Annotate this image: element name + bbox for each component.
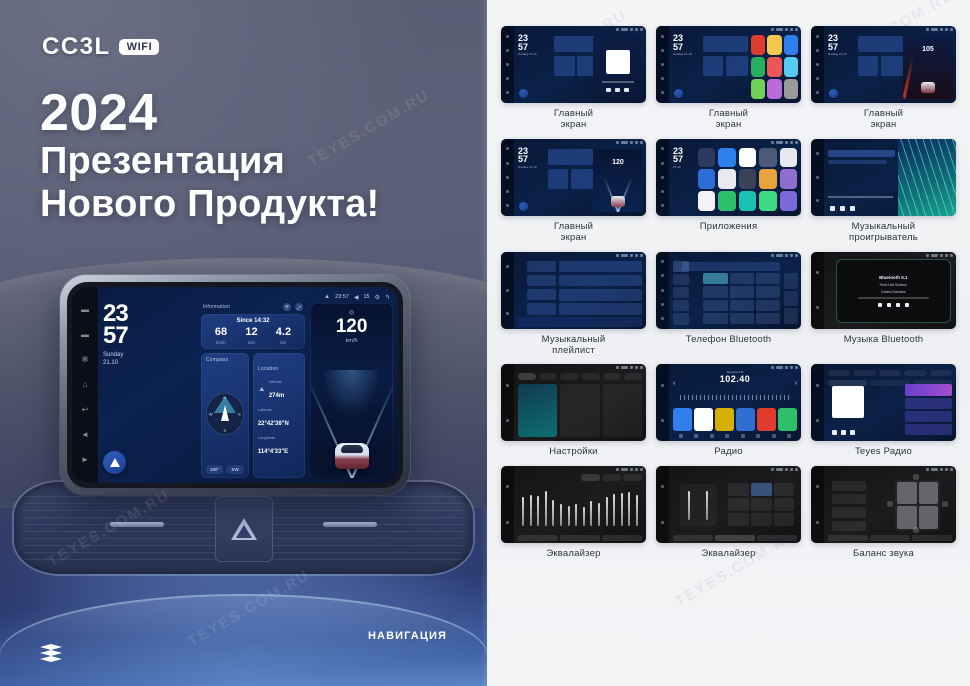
thumb-side-bar <box>811 466 824 543</box>
thumb-side-bar <box>501 26 514 103</box>
compass-e: E <box>238 411 241 416</box>
widget-columns: 23 57 Sunday 21.10 Information <box>103 303 393 478</box>
speedometer-icon: ◎ <box>349 309 354 316</box>
expand-icon[interactable]: ⤢ <box>295 303 303 311</box>
power-icon[interactable]: ▬ <box>80 304 91 315</box>
screen-thumbnail-home-media[interactable]: 2357Sunday 21.10 <box>501 26 646 103</box>
balance-presets[interactable] <box>832 481 866 530</box>
gear-icon[interactable]: ⚙ <box>375 294 380 301</box>
information-header: Information ⟳ ⤢ <box>201 303 305 314</box>
altitude-label: Altitude <box>269 379 284 384</box>
phone-actions[interactable] <box>784 273 799 324</box>
thumb-content <box>824 466 956 543</box>
next-station-icon[interactable]: › <box>795 380 797 387</box>
car-graphic <box>921 82 935 93</box>
thumb-status-bar <box>771 28 798 31</box>
trip-stat-unit: km <box>276 340 291 345</box>
thumb-app-shortcuts[interactable] <box>751 35 799 99</box>
trip-stat-unit: km/h <box>215 340 227 345</box>
clock-day: Sunday <box>103 351 196 359</box>
thumb-content: Bluetooth 5.1 Feels Like Summer Coldest … <box>824 252 956 329</box>
latitude-row: Latitude 22°42'38"N <box>258 407 300 430</box>
clock-date: 21.10 <box>103 359 196 367</box>
head-unit-frame: ▬ ▬ ✻ ⌂ ↩ ◄ ► ▲ 23:57 ◀ <box>67 282 403 488</box>
gallery-item[interactable]: 2357Sunday 21.10 <box>501 26 646 131</box>
thumb-status-bar <box>771 468 798 471</box>
screen-thumbnail-equalizer-bands[interactable] <box>501 466 646 543</box>
media-controls[interactable] <box>604 88 632 93</box>
thumb-content <box>669 252 801 329</box>
thumb-drive-panel: 105 <box>903 36 953 99</box>
thumb-side-bar <box>811 364 824 441</box>
thumb-content <box>514 364 646 441</box>
phone-number-field[interactable] <box>682 262 780 271</box>
thumb-side-bar <box>501 252 514 329</box>
drive-widget[interactable]: ◎ 120 km/h <box>310 303 393 478</box>
thumb-content <box>514 466 646 543</box>
back-icon[interactable]: ↰ <box>385 294 390 301</box>
back-icon[interactable]: ↩ <box>80 405 91 416</box>
album-art <box>832 386 864 418</box>
settings-cards[interactable] <box>518 384 642 437</box>
gallery-item[interactable]: Телефон Bluetooth <box>656 252 801 357</box>
compass-title: Compass <box>206 357 244 363</box>
information-title: Information <box>203 304 230 310</box>
thumb-content <box>669 466 801 543</box>
gallery-item-label: Радио <box>714 446 742 457</box>
information-actions[interactable]: ⟳ ⤢ <box>283 303 303 311</box>
status-volume: 15 <box>363 294 369 300</box>
gallery-item[interactable]: 2357Sunday 21.10 <box>656 26 801 131</box>
radio-frequency: 102.40 <box>682 374 788 384</box>
head-unit-screen[interactable]: ▬ ▬ ✻ ⌂ ↩ ◄ ► ▲ 23:57 ◀ <box>72 287 398 483</box>
gallery-item[interactable]: Настройки <box>501 364 646 457</box>
bt-version-label: Bluetooth 5.1 <box>879 275 908 280</box>
bt-music-card: Bluetooth 5.1 Feels Like Summer Coldest … <box>836 259 951 322</box>
app-drawer[interactable] <box>698 148 797 211</box>
screen-thumbnail-radio[interactable]: Stepstav FM 102.40 ‹ › <box>656 364 801 441</box>
progress-bar <box>602 81 634 83</box>
thumb-content: 2357Sunday 21.10 <box>669 26 801 103</box>
thumb-content: 235721.10 <box>669 139 801 216</box>
slide-root: TEYES.COM.RU TEYES.COM.RU TEYES.COM.RU C… <box>0 0 970 686</box>
thumb-side-bar <box>656 139 669 216</box>
thumb-status-bar <box>616 28 643 31</box>
logo-text: CC3L <box>42 33 111 61</box>
screen-thumbnail-bt-phone[interactable] <box>656 252 801 329</box>
bt-progress-bar[interactable] <box>858 297 929 299</box>
album-art <box>606 50 630 74</box>
location-title: Location <box>258 366 279 372</box>
gallery-item-label: Музыкальныйплейлист <box>542 334 606 357</box>
thumb-side-bar <box>656 364 669 441</box>
gallery-item[interactable]: Эквалайзер <box>501 466 646 559</box>
headline-year: 2024 <box>40 86 379 140</box>
thumb-nav-button[interactable] <box>674 89 683 98</box>
screen-thumbnail-playlist[interactable] <box>501 252 646 329</box>
gallery-item-label: Музыка Bluetooth <box>844 334 924 345</box>
latitude-value: 22°42'38"N <box>258 421 289 427</box>
gallery-item[interactable]: 235721.10 <box>656 139 801 244</box>
hazard-button[interactable] <box>215 496 273 562</box>
compass-widget[interactable]: Compass N S W <box>201 353 249 478</box>
thumb-side-bar <box>501 466 514 543</box>
screen-thumbnail-bt-music[interactable]: Bluetooth 5.1 Feels Like Summer Coldest … <box>811 252 956 329</box>
eq-sliders[interactable] <box>522 483 638 526</box>
gallery-item[interactable]: Баланс звука <box>811 466 956 559</box>
thumb-status-bar <box>771 254 798 257</box>
trip-stat: 68 km/h <box>215 327 227 345</box>
radio-header: Stepstav FM 102.40 <box>682 370 788 384</box>
thumb-side-bar <box>656 252 669 329</box>
clock-minutes: 57 <box>103 325 196 347</box>
compass-needle <box>221 405 229 421</box>
gallery-item[interactable]: Bluetooth 5.1 Feels Like Summer Coldest … <box>811 252 956 357</box>
progress-bar[interactable] <box>828 196 893 198</box>
thumb-content: 2357Sunday 21.10 105 <box>824 26 956 103</box>
balance-pad[interactable] <box>895 480 940 531</box>
eq-tabs[interactable] <box>673 535 797 541</box>
eq-mode-buttons[interactable] <box>728 483 794 526</box>
gallery-item[interactable]: 2357Sunday 21.10 120 Главныйэкран <box>501 139 646 244</box>
altitude-row: ⛰ Altitude 274m <box>258 379 300 402</box>
thumb-status-bar <box>616 254 643 257</box>
screen-side-buttons[interactable]: ▬ ▬ ✻ ⌂ ↩ ◄ ► <box>72 287 98 483</box>
trip-stat: 12 min <box>245 327 257 345</box>
thumb-status-bar <box>926 468 953 471</box>
teyes-radio-tabs[interactable] <box>828 370 952 376</box>
thumb-compass-card <box>703 56 723 76</box>
mute-icon[interactable]: ▬ <box>80 329 91 340</box>
headline-line-1: Презентация <box>40 140 379 183</box>
hero-panel: TEYES.COM.RU TEYES.COM.RU TEYES.COM.RU C… <box>0 0 487 686</box>
hazard-triangle-icon <box>231 518 257 540</box>
screen-thumbnail-home-apps[interactable]: 2357Sunday 21.10 <box>656 26 801 103</box>
thumb-location-card <box>726 56 748 76</box>
thumb-content: Stepstav FM 102.40 ‹ › <box>669 364 801 441</box>
info-column: Information ⟳ ⤢ Since 14:32 <box>201 303 305 478</box>
thumb-media-panel <box>593 36 643 99</box>
compass-readouts: 180° SW <box>206 465 244 474</box>
eq-tabs[interactable] <box>518 535 642 541</box>
thumb-clock: 2357Sunday 21.10 <box>828 34 847 56</box>
navigation-arrow-icon <box>110 458 120 467</box>
bt-controls[interactable] <box>878 303 909 307</box>
headline-block: 2024 Презентация Нового Продукта! <box>40 86 379 225</box>
gallery-item-label: Teyes Радио <box>855 446 912 457</box>
gallery-item[interactable]: Stepstav FM 102.40 ‹ › <box>656 364 801 457</box>
thumb-clock: 2357Sunday 21.10 <box>518 34 537 56</box>
gallery-item-label: Музыкальныйпроигрыватель <box>849 221 918 244</box>
gallery-item[interactable]: Музыкальныйплейлист <box>501 252 646 357</box>
balance-down-button[interactable] <box>913 527 919 533</box>
gallery-item-label: Эквалайзер <box>546 548 600 559</box>
screen-thumbnail-apps[interactable]: 235721.10 <box>656 139 801 216</box>
thumb-info-card <box>703 36 748 52</box>
lower-widgets: Compass N S W <box>201 353 305 478</box>
gallery-item[interactable]: Эквалайзер <box>656 466 801 559</box>
clock-column: 23 57 Sunday 21.10 <box>103 303 196 478</box>
phone-nav-rail[interactable] <box>673 261 689 325</box>
playlist-tracks[interactable] <box>559 261 642 315</box>
screen-thumbnail-settings[interactable] <box>501 364 646 441</box>
screen-content: ▲ 23:57 ◀ 15 ⚙ ↰ 23 57 <box>98 287 398 483</box>
screen-thumbnail-player[interactable] <box>811 139 956 216</box>
thumb-nav-button[interactable] <box>829 89 838 98</box>
refresh-icon[interactable]: ⟳ <box>283 303 291 311</box>
volume-down-icon[interactable]: ◄ <box>80 430 91 441</box>
gallery-item-label: Эквалайзер <box>701 548 755 559</box>
thumb-speed-value: 120 <box>593 159 643 166</box>
thumb-side-bar <box>811 26 824 103</box>
player-controls[interactable] <box>830 206 855 211</box>
trip-stats: 68 km/h 12 min <box>206 327 300 345</box>
vent-trim-left <box>110 522 164 527</box>
thumb-content: 2357Sunday 21.10 <box>514 26 646 103</box>
radio-toolbar[interactable] <box>673 433 797 439</box>
screens-gallery: TEYES.COM.RU TEYES.COM.RU TEYES.COM.RU 2… <box>487 0 970 686</box>
compass-heading: 180° <box>206 465 224 474</box>
trip-stat-value: 12 <box>245 327 257 338</box>
balance-left-button[interactable] <box>887 501 893 507</box>
drive-speed: 120 <box>336 317 368 336</box>
playlist-categories[interactable] <box>527 261 556 315</box>
status-time: 23:57 <box>335 294 349 300</box>
home-icon[interactable]: ⌂ <box>80 379 91 390</box>
product-logo: CC3L WIFI <box>42 33 159 61</box>
trip-stat-value: 4.2 <box>276 327 291 338</box>
thumb-content <box>824 364 956 441</box>
trip-stat: 4.2 km <box>276 327 291 345</box>
radio-tuning-scale[interactable] <box>680 395 791 400</box>
longitude-value: 114°4'33"E <box>258 449 288 455</box>
drive-column: ◎ 120 km/h <box>310 303 393 478</box>
thumb-info-card <box>548 149 593 165</box>
radio-presets[interactable] <box>673 408 797 431</box>
gallery-item-label: Баланс звука <box>853 548 914 559</box>
thumb-content: 2357Sunday 21.10 120 <box>514 139 646 216</box>
car-graphic <box>335 443 369 469</box>
gallery-item-label: Главныйэкран <box>864 108 903 131</box>
thumb-nav-button[interactable] <box>519 89 528 98</box>
status-bar: ▲ 23:57 ◀ 15 ⚙ ↰ <box>103 291 393 303</box>
trip-since: Since 14:32 <box>206 318 300 324</box>
thumb-clock: 2357Sunday 21.10 <box>518 147 537 169</box>
thumb-status-bar <box>616 366 643 369</box>
thumb-compass-card <box>858 56 878 76</box>
thumb-side-bar <box>656 26 669 103</box>
thumb-clock: 235721.10 <box>673 147 683 169</box>
navigation-button[interactable] <box>103 451 126 474</box>
thumb-compass-card <box>548 169 568 189</box>
thumb-speed-value: 105 <box>903 46 953 53</box>
artist-row <box>828 160 887 164</box>
thumb-status-bar <box>771 366 798 369</box>
thumb-drive-panel: 120 <box>593 149 643 212</box>
now-playing-row <box>828 150 895 157</box>
thumb-side-bar <box>811 252 824 329</box>
compass-w: W <box>209 411 213 416</box>
settings-icon[interactable]: ✻ <box>80 354 91 365</box>
compass-direction: SW <box>226 465 244 474</box>
thumb-side-bar <box>656 466 669 543</box>
trip-stat-value: 68 <box>215 327 227 338</box>
phone-keypad[interactable] <box>703 273 780 324</box>
thumb-compass-card <box>554 56 575 76</box>
gallery-item[interactable]: Teyes Радио <box>811 364 956 457</box>
eq-dual-sliders[interactable] <box>680 484 717 526</box>
thumb-content <box>514 252 646 329</box>
trip-stat-unit: min <box>245 340 257 345</box>
car-graphic <box>611 196 625 207</box>
gallery-item-label: Приложения <box>700 221 758 232</box>
screen-thumbnail-home-speed[interactable]: 2357Sunday 21.10 105 <box>811 26 956 103</box>
navigation-label: НАВИГАЦИЯ <box>368 630 447 642</box>
gallery-item-label: Главныйэкран <box>554 108 593 131</box>
drive-speed-unit: km/h <box>346 338 358 344</box>
thumb-side-bar <box>811 139 824 216</box>
thumb-content <box>824 139 956 216</box>
air-vent-band <box>14 482 473 574</box>
gallery-item[interactable]: Музыкальныйпроигрыватель <box>811 139 956 244</box>
thumb-location-card <box>571 169 593 189</box>
teyes-radio-controls[interactable] <box>832 430 855 435</box>
gallery-item-label: Главныйэкран <box>554 221 593 244</box>
thumb-status-bar <box>771 141 798 144</box>
thumbnail-grid: 2357Sunday 21.10 <box>501 26 956 559</box>
location-widget[interactable]: Location ⛰ Altitude 274m <box>253 353 305 478</box>
screen-thumbnail-equalizer-simple[interactable] <box>656 466 801 543</box>
gallery-item-label: Главныйэкран <box>709 108 748 131</box>
head-unit-bezel: ▬ ▬ ✻ ⌂ ↩ ◄ ► ▲ 23:57 ◀ <box>60 275 410 495</box>
bt-track-title: Feels Like Summer <box>880 283 907 287</box>
screen-thumbnail-sound-balance[interactable] <box>811 466 956 543</box>
latitude-label: Latitude <box>258 407 300 412</box>
wifi-icon: ▲ <box>324 294 330 300</box>
thumb-info-card <box>858 36 903 52</box>
compass-rose: N S W E <box>206 393 244 435</box>
trip-card: Since 14:32 68 km/h 12 <box>201 314 305 349</box>
headline-line-2: Нового Продукта! <box>40 183 379 226</box>
volume-up-icon[interactable]: ► <box>80 455 91 466</box>
thumb-status-bar <box>616 468 643 471</box>
prev-station-icon[interactable]: ‹ <box>673 380 675 387</box>
mountain-icon: ⛰ <box>258 387 266 395</box>
compass-n: N <box>223 395 226 400</box>
thumb-status-bar <box>926 254 953 257</box>
thumb-location-card <box>881 56 903 76</box>
balance-up-button[interactable] <box>913 474 919 480</box>
balance-right-button[interactable] <box>942 501 948 507</box>
visualizer <box>898 139 956 216</box>
compass-s: S <box>223 428 226 433</box>
thumb-nav-button[interactable] <box>519 202 528 211</box>
wifi-badge: WIFI <box>119 39 160 55</box>
thumb-side-bar <box>501 139 514 216</box>
volume-icon: ◀ <box>354 294 359 301</box>
vent-trim-right <box>323 522 377 527</box>
settings-tabs[interactable] <box>518 373 642 380</box>
information-widget[interactable]: Information ⟳ ⤢ Since 14:32 <box>201 303 305 349</box>
thumb-status-bar <box>616 141 643 144</box>
screen-thumbnail-home-drive[interactable]: 2357Sunday 21.10 120 <box>501 139 646 216</box>
thumb-side-bar <box>501 364 514 441</box>
head-unit: ▬ ▬ ✻ ⌂ ↩ ◄ ► ▲ 23:57 ◀ <box>60 275 410 495</box>
gallery-item[interactable]: 2357Sunday 21.10 105 Главныйэкран <box>811 26 956 131</box>
eq-presets[interactable] <box>581 474 642 481</box>
altitude-value: 274m <box>269 393 284 399</box>
teyes-radio-stations[interactable] <box>905 384 953 435</box>
screen-thumbnail-teyes-radio[interactable] <box>811 364 956 441</box>
balance-tabs[interactable] <box>828 535 952 541</box>
thumb-status-bar <box>926 28 953 31</box>
thumb-clock: 2357Sunday 21.10 <box>673 34 692 56</box>
longitude-label: Longitude <box>258 435 300 440</box>
gallery-item-label: Телефон Bluetooth <box>686 334 772 345</box>
compass-dial: N S W E <box>206 365 244 462</box>
road-line-left <box>903 55 915 99</box>
playlist-player-bar[interactable] <box>518 317 642 327</box>
longitude-row: Longitude 114°4'33"E <box>258 435 300 458</box>
bt-track-artist: Coldest Sunshine <box>881 290 906 294</box>
gallery-item-label: Настройки <box>549 446 597 457</box>
